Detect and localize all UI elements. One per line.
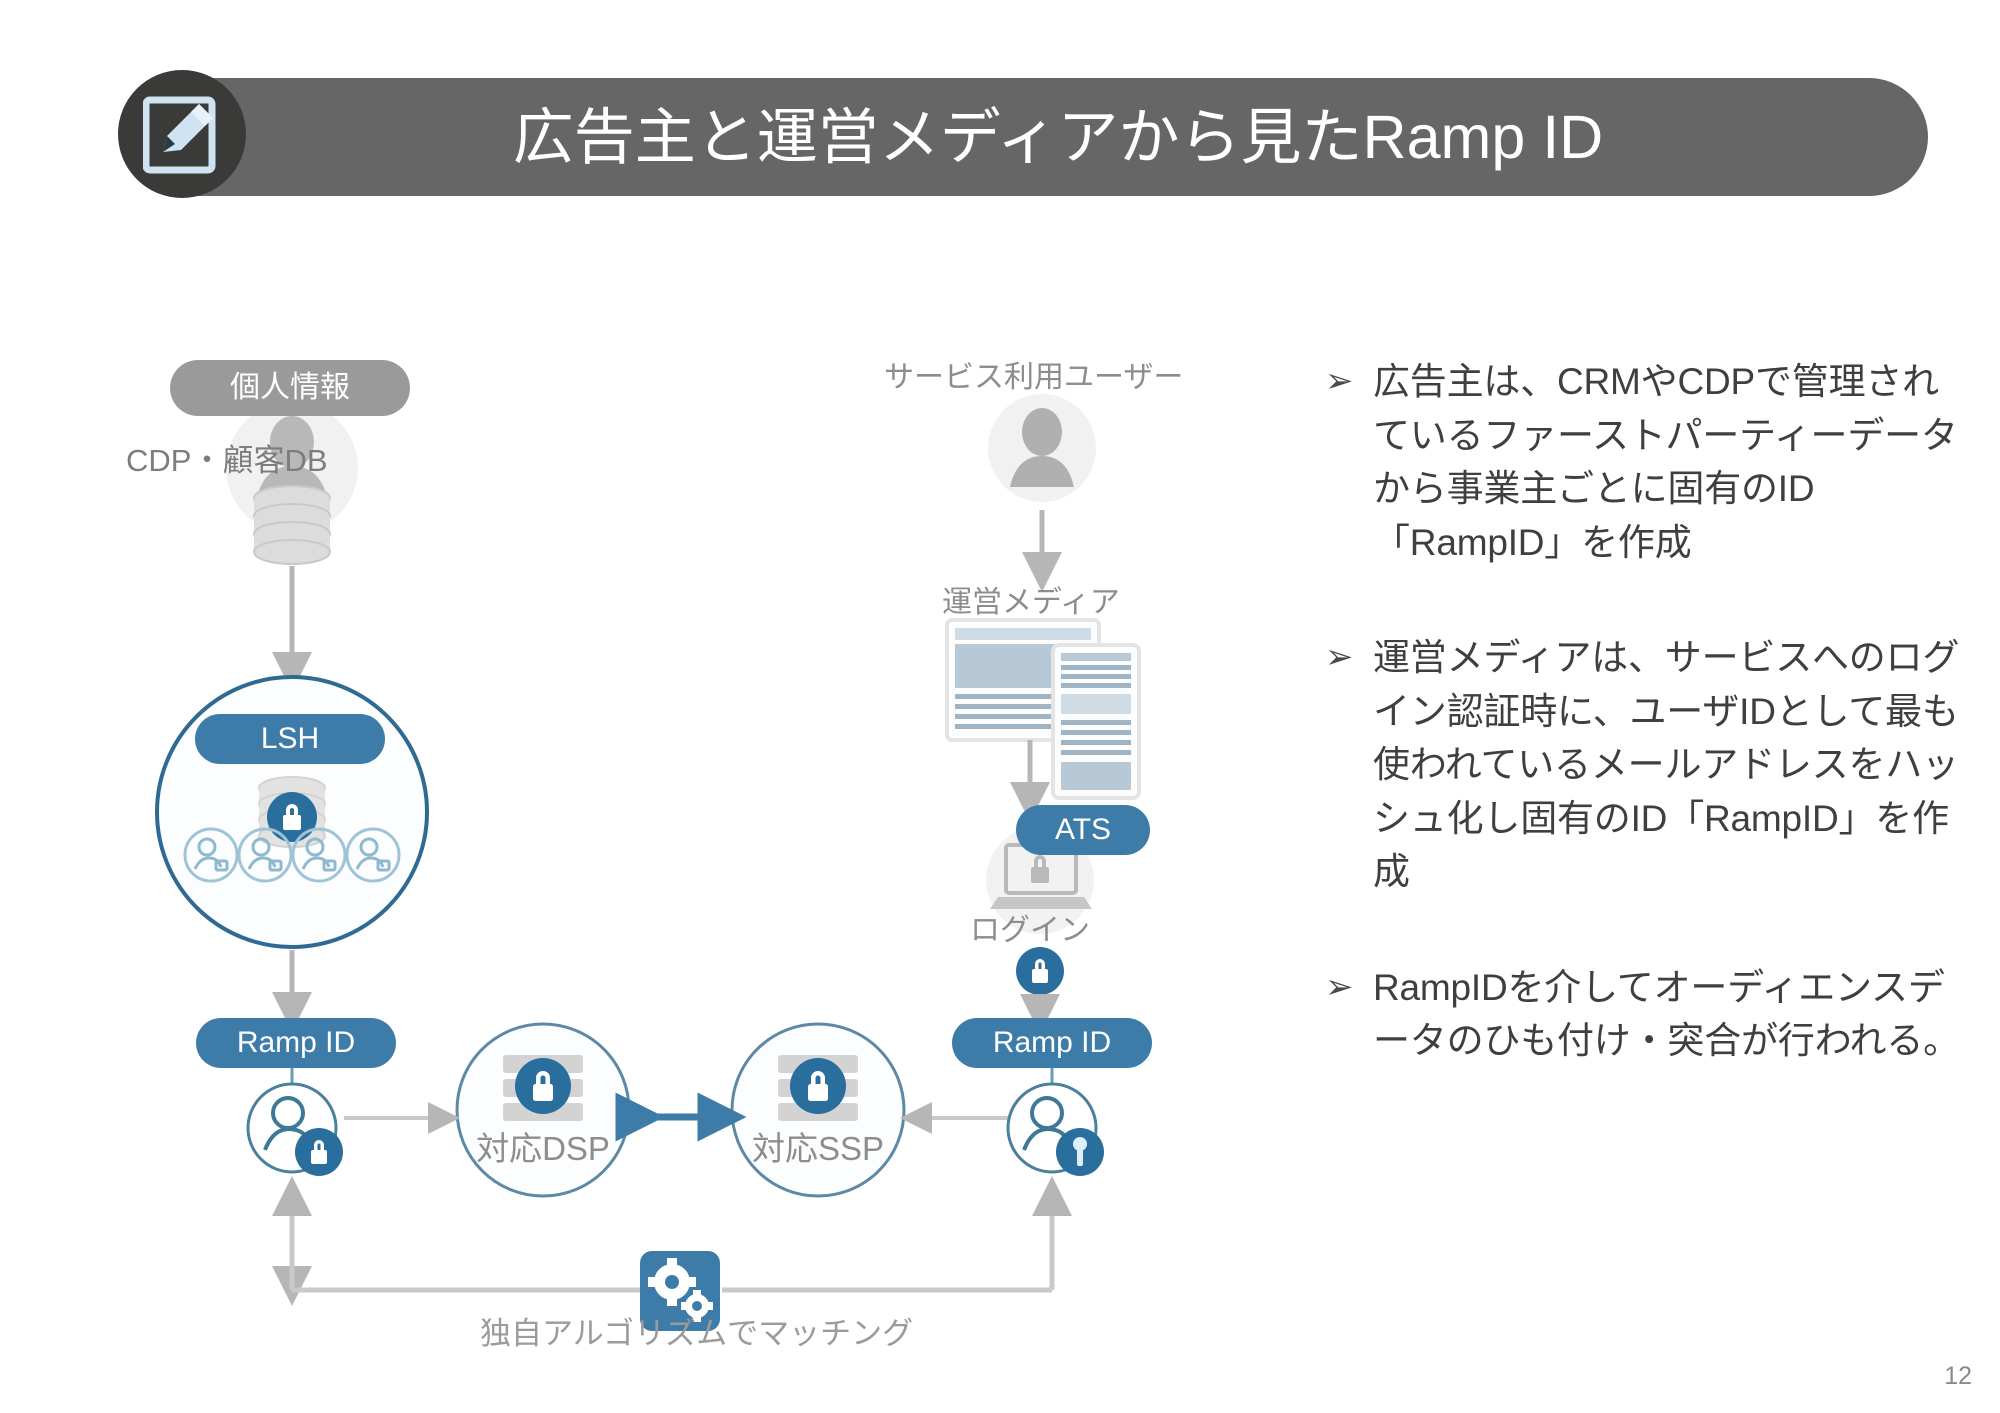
rampid-badge-left: Ramp ID — [196, 1018, 396, 1068]
bullet-arrow-icon: ➢ — [1325, 631, 1373, 684]
list-item: ➢ 広告主は、CRMやCDPで管理されているファーストパーティーデータから事業主… — [1325, 355, 1965, 569]
personal-info-badge: 個人情報 — [170, 360, 410, 416]
bullet-arrow-icon: ➢ — [1325, 961, 1373, 1014]
cdp-customer-db-text: CDP・顧客DB — [126, 443, 328, 478]
list-item: ➢ 運営メディアは、サービスへのログイン認証時に、ユーザIDとして最も使われてい… — [1325, 631, 1965, 899]
lsh-badge: LSH — [195, 714, 385, 764]
bullet-arrow-icon: ➢ — [1325, 355, 1373, 408]
page-number: 12 — [1944, 1362, 1972, 1391]
media-label: 運営メディア — [942, 577, 1120, 621]
diagram-canvas: 個人情報 CDP・顧客DB LSH Ramp ID 対応DSP 対応SSP サー… — [0, 0, 1300, 1413]
rampid-badge-right: Ramp ID — [952, 1018, 1152, 1068]
login-label: ログイン — [970, 905, 1090, 949]
bullet-text-3: RampIDを介してオーディエンスデータのひも付け・突合が行われる。 — [1373, 961, 1965, 1068]
service-user-label: サービス利用ユーザー — [884, 352, 1183, 396]
bullet-text-1: 広告主は、CRMやCDPで管理されているファーストパーティーデータから事業主ごと… — [1373, 355, 1965, 569]
matching-algorithm-label: 独自アルゴリズムでマッチング — [480, 1308, 913, 1353]
ats-badge: ATS — [1016, 805, 1150, 855]
dsp-label: 対応DSP — [455, 1122, 631, 1170]
cdp-customer-db-label: CDP・顧客DB — [126, 440, 328, 482]
diagram-connectors — [0, 0, 1300, 1413]
bullet-list: ➢ 広告主は、CRMやCDPで管理されているファーストパーティーデータから事業主… — [1325, 355, 1965, 1130]
bullet-text-2: 運営メディアは、サービスへのログイン認証時に、ユーザIDとして最も使われているメ… — [1373, 631, 1965, 899]
ssp-label: 対応SSP — [730, 1122, 906, 1170]
list-item: ➢ RampIDを介してオーディエンスデータのひも付け・突合が行われる。 — [1325, 961, 1965, 1068]
